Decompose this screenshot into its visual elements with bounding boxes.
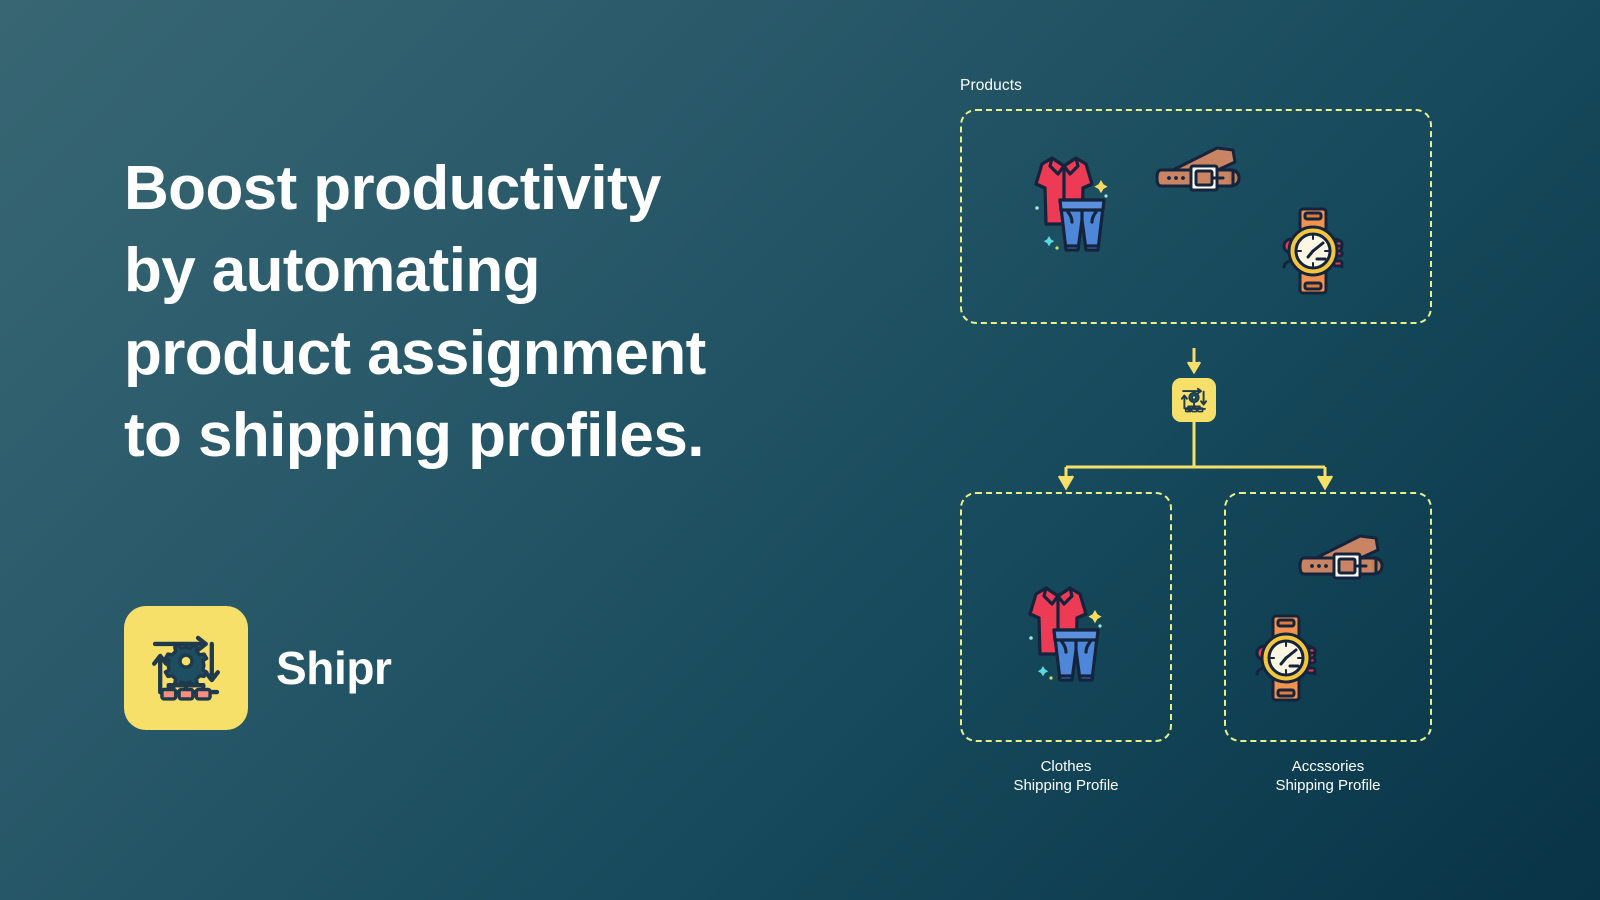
page-title: Boost productivity by automating product…: [124, 148, 844, 478]
automation-node: [1172, 378, 1216, 422]
gear-icon: [165, 645, 206, 686]
automation-flow-gear-icon: [1178, 384, 1210, 416]
wristwatch-icon: [1277, 205, 1349, 302]
products-label: Products: [960, 77, 1022, 95]
accessories-profile-label: Accssories Shipping Profile: [1224, 757, 1432, 795]
promo-canvas: Boost productivity by automating product…: [0, 0, 1600, 900]
clothes-profile-label: Clothes Shipping Profile: [960, 757, 1172, 795]
wristwatch-icon: [1250, 612, 1322, 709]
hero-copy: Boost productivity by automating product…: [124, 148, 844, 478]
shirt-and-jeans-icon: [1012, 580, 1104, 693]
brand-lockup: Shipr: [124, 606, 392, 730]
shirt-and-jeans-icon: [1018, 150, 1110, 263]
automation-flow-gear-icon: [143, 625, 229, 711]
app-logo: [124, 606, 248, 730]
flow-diagram: Products: [940, 60, 1560, 850]
belt-icon: [1298, 528, 1390, 589]
gear-icon: [1189, 393, 1199, 403]
brand-name: Shipr: [276, 641, 392, 695]
belt-icon: [1155, 140, 1247, 201]
